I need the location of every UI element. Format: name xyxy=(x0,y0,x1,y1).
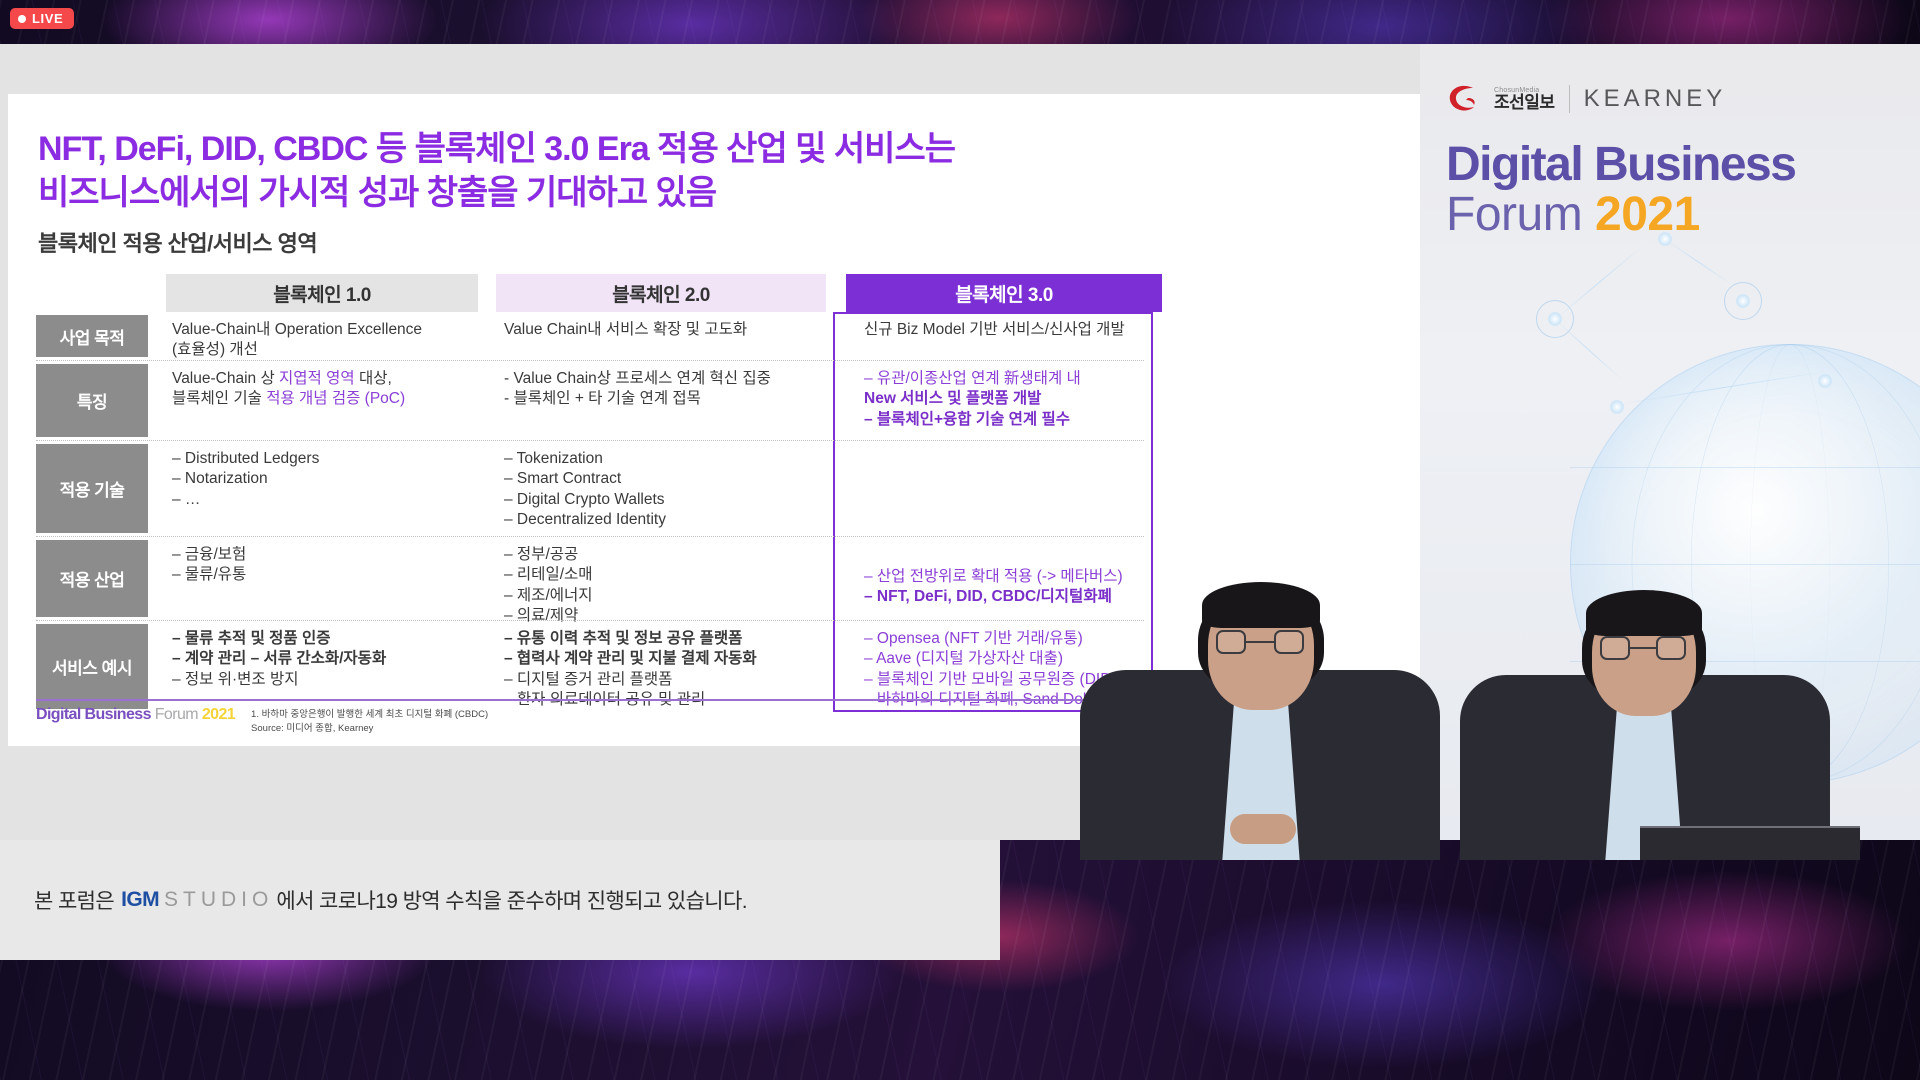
slide-headline: NFT, DeFi, DID, CBDC 등 블록체인 3.0 Era 적용 산… xyxy=(38,128,1378,215)
footer-logo-bold: Digital Business xyxy=(36,706,151,723)
cell-line: Value Chain내 서비스 확장 및 고도화 xyxy=(504,320,822,340)
column-header-blockchain-1: 블록체인 1.0 xyxy=(166,274,478,312)
footer-logo-year: 2021 xyxy=(202,706,235,723)
table-row: 특징 Value-Chain 상 지엽적 영역 대상, 블록체인 기술 적용 개… xyxy=(36,360,1144,440)
cell-line: – 물류 추적 및 정품 인증 xyxy=(172,629,490,649)
chosun-ilbo-logo-icon xyxy=(1446,84,1480,114)
slide-subheading: 블록체인 적용 산업/서비스 영역 xyxy=(38,226,317,258)
cell-r3-c2: – Tokenization – Smart Contract – Digita… xyxy=(496,441,826,536)
forum-word: Forum xyxy=(1446,188,1582,241)
presenter-left-hair-top xyxy=(1202,582,1320,628)
live-badge: LIVE xyxy=(10,8,74,29)
forum-title-block: Digital Business Forum 2021 xyxy=(1446,140,1795,241)
table-row: 적용 기술 – Distributed Ledgers – Notarizati… xyxy=(36,440,1144,536)
cell-line: Value-Chain 상 지엽적 영역 대상, xyxy=(172,369,490,389)
safety-banner: 본 포럼은 IGM STUDIO 에서 코로나19 방역 수칙을 준수하며 진행… xyxy=(0,840,1000,960)
cell-line: – 유통 이력 추적 및 정보 공유 플랫폼 xyxy=(504,629,822,649)
cell-line: – 협력사 계약 관리 및 지불 결제 자동화 xyxy=(504,649,822,669)
banner-suffix: 에서 코로나19 방역 수칙을 준수하며 진행되고 있습니다. xyxy=(276,885,747,915)
presenter-video-overlay xyxy=(1000,560,1920,860)
video-background-top xyxy=(0,0,1920,44)
cell-line: (효율성) 개선 xyxy=(172,340,490,360)
table-row: 사업 목적 Value-Chain내 Operation Excellence … xyxy=(36,312,1144,360)
cell-line: – Distributed Ledgers xyxy=(172,449,490,469)
table-body: 사업 목적 Value-Chain내 Operation Excellence … xyxy=(36,312,1144,712)
safety-banner-text: 본 포럼은 IGM STUDIO 에서 코로나19 방역 수칙을 준수하며 진행… xyxy=(34,885,747,915)
footnote-line2: Source: 미디어 종합, Kearney xyxy=(251,722,488,736)
row-label-service-examples: 서비스 예시 xyxy=(36,624,148,709)
cell-line: – … xyxy=(172,490,490,510)
forum-year: 2021 xyxy=(1595,188,1700,241)
cell-line: – 계약 관리 – 서류 간소화/자동화 xyxy=(172,649,490,669)
cell-r4-c2: – 정부/공공 – 리테일/소매 – 제조/에너지 – 의료/제약 xyxy=(496,537,826,620)
slide-headline-line1: NFT, DeFi, DID, CBDC 등 블록체인 3.0 Era 적용 산… xyxy=(38,128,1378,172)
cell-line: – 정부/공공 xyxy=(504,545,822,565)
row-label-applied-tech: 적용 기술 xyxy=(36,444,148,533)
cell-line: – Notarization xyxy=(172,469,490,489)
cell-line: – Smart Contract xyxy=(504,469,822,489)
cell-line: 블록체인 기술 적용 개념 검증 (PoC) xyxy=(172,389,490,409)
igm-logo: IGM xyxy=(121,888,159,912)
kearney-wordmark: KEARNEY xyxy=(1584,85,1727,113)
slide-footnote: 1. 바하마 중앙은행이 발행한 세계 최초 디지털 화폐 (CBDC) Sou… xyxy=(251,706,488,736)
cell-line: Value-Chain내 Operation Excellence xyxy=(172,320,490,340)
cell-line: 신규 Biz Model 기반 서비스/신사업 개발 xyxy=(864,320,1162,340)
presenter-right xyxy=(1440,560,1860,860)
logo-divider xyxy=(1569,85,1570,113)
cell-line: – Digital Crypto Wallets xyxy=(504,490,822,510)
network-node-icon xyxy=(1818,374,1832,388)
cell-line: – 물류/유통 xyxy=(172,565,490,585)
table-header-row: 블록체인 1.0 블록체인 2.0 블록체인 3.0 xyxy=(36,274,1144,312)
network-link xyxy=(1555,245,1644,320)
presenter-left-glasses-icon xyxy=(1216,630,1308,654)
slide-headline-line2: 비즈니스에서의 가시적 성과 창출을 기대하고 있음 xyxy=(38,172,1378,216)
cell-line: New 서비스 및 플랫폼 개발 xyxy=(864,389,1162,409)
footer-logo-forum: Forum xyxy=(155,706,198,723)
forum-title-line2: Forum 2021 xyxy=(1446,190,1795,240)
cell-line: – Tokenization xyxy=(504,449,822,469)
column-header-blockchain-2: 블록체인 2.0 xyxy=(496,274,826,312)
broadcast-stage: LIVE Cho xyxy=(0,0,1920,1080)
cell-line: – 정보 위·변조 방지 xyxy=(172,670,490,690)
cell-r2-c1: Value-Chain 상 지엽적 영역 대상, 블록체인 기술 적용 개념 검… xyxy=(164,361,494,440)
studio-wordmark: STUDIO xyxy=(164,888,273,912)
banner-prefix: 본 포럼은 xyxy=(34,885,114,915)
cell-r4-c1: – 금융/보험 – 물류/유통 xyxy=(164,537,494,620)
cell-r2-c2: - Value Chain상 프로세스 연계 혁신 집중 - 블록체인 + 타 … xyxy=(496,361,826,440)
cell-r2-c3: – 유관/이종산업 연계 新생태계 내 New 서비스 및 플랫폼 개발 – 블… xyxy=(848,361,1166,440)
cell-r1-c3: 신규 Biz Model 기반 서비스/신사업 개발 xyxy=(848,312,1166,360)
table-row: 적용 산업 – 금융/보험 – 물류/유통 – 정부/공공 – 리테일/소매 –… xyxy=(36,536,1144,620)
comparison-table: 블록체인 1.0 블록체인 2.0 블록체인 3.0 사업 목적 Value-C… xyxy=(36,274,1144,712)
header-spacer xyxy=(36,274,164,312)
row-label-applied-industry: 적용 산업 xyxy=(36,540,148,617)
presenter-right-hair-top xyxy=(1586,590,1702,636)
cell-line: – 리테일/소매 xyxy=(504,565,822,585)
network-link xyxy=(1555,319,1624,381)
presenter-left xyxy=(1060,560,1460,860)
footer-forum-logo: Digital Business Forum 2021 xyxy=(36,706,235,724)
slide-footer: Digital Business Forum 2021 1. 바하마 중앙은행이… xyxy=(36,706,488,736)
brand-logo-row: ChosunMedia 조선일보 KEARNEY xyxy=(1420,84,1920,114)
column-header-blockchain-3: 블록체인 3.0 xyxy=(846,274,1162,312)
slide-footer-rule xyxy=(36,699,1144,701)
chosun-wordmark: ChosunMedia 조선일보 xyxy=(1494,87,1555,111)
presenter-left-hands xyxy=(1230,814,1296,844)
footnote-line1: 1. 바하마 중앙은행이 발행한 세계 최초 디지털 화폐 (CBDC) xyxy=(251,708,488,722)
live-label: LIVE xyxy=(32,12,63,25)
cell-line: – 제조/에너지 xyxy=(504,586,822,606)
cell-line: – 블록체인+융합 기술 연계 필수 xyxy=(864,410,1162,430)
row-label-business-purpose: 사업 목적 xyxy=(36,315,148,357)
cell-line: – Decentralized Identity xyxy=(504,510,822,530)
forum-title-line1: Digital Business xyxy=(1446,140,1795,190)
cell-r3-c1: – Distributed Ledgers – Notarization – … xyxy=(164,441,494,536)
cell-line: - Value Chain상 프로세스 연계 혁신 집중 xyxy=(504,369,822,389)
presenter-right-glasses-icon xyxy=(1600,636,1690,660)
background-streaks xyxy=(0,0,1920,44)
cell-r1-c1: Value-Chain내 Operation Excellence (효율성) … xyxy=(164,312,494,360)
laptop xyxy=(1640,826,1860,860)
cell-line: - 블록체인 + 타 기술 연계 접목 xyxy=(504,389,822,409)
network-link xyxy=(1665,239,1734,286)
row-label-characteristics: 특징 xyxy=(36,364,148,437)
cell-r1-c2: Value Chain내 서비스 확장 및 고도화 xyxy=(496,312,826,360)
cell-line: – 디지털 증거 관리 플랫폼 xyxy=(504,670,822,690)
cell-r3-c3 xyxy=(848,441,1166,536)
network-ring-icon xyxy=(1724,282,1762,320)
chosun-korean-label: 조선일보 xyxy=(1494,94,1555,111)
cell-line: – 유관/이종산업 연계 新생태계 내 xyxy=(864,369,1162,389)
globe-latitude xyxy=(1570,467,1920,468)
cell-line: – 금융/보험 xyxy=(172,545,490,565)
live-dot-icon xyxy=(18,15,26,23)
